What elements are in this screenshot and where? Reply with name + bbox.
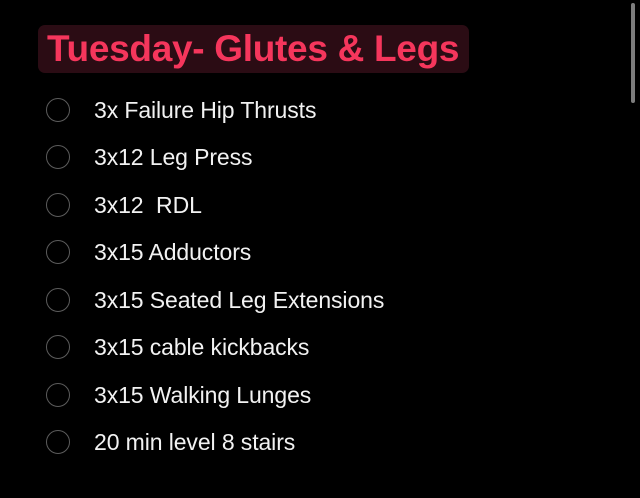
- list-item-label: 3x12 RDL: [94, 191, 202, 219]
- checkbox-icon[interactable]: [46, 98, 70, 122]
- note-page: Tuesday- Glutes & Legs 3x Failure Hip Th…: [0, 0, 640, 498]
- checkbox-icon[interactable]: [46, 335, 70, 359]
- scrollbar[interactable]: [632, 0, 638, 498]
- checklist: 3x Failure Hip Thrusts 3x12 Leg Press 3x…: [0, 86, 640, 466]
- checkbox-icon[interactable]: [46, 193, 70, 217]
- list-item-label: 3x15 Seated Leg Extensions: [94, 286, 384, 314]
- page-title: Tuesday- Glutes & Legs: [38, 25, 469, 73]
- list-item[interactable]: 3x12 RDL: [0, 181, 640, 229]
- list-item[interactable]: 3x15 Adductors: [0, 229, 640, 277]
- list-item-label: 3x12 Leg Press: [94, 143, 252, 171]
- list-item[interactable]: 20 min level 8 stairs: [0, 419, 640, 467]
- list-item-label: 20 min level 8 stairs: [94, 428, 295, 456]
- checkbox-icon[interactable]: [46, 240, 70, 264]
- list-item-label: 3x15 Adductors: [94, 238, 251, 266]
- list-item[interactable]: 3x12 Leg Press: [0, 134, 640, 182]
- scrollbar-thumb[interactable]: [631, 3, 635, 103]
- checkbox-icon[interactable]: [46, 430, 70, 454]
- list-item[interactable]: 3x15 Walking Lunges: [0, 371, 640, 419]
- list-item[interactable]: 3x Failure Hip Thrusts: [0, 86, 640, 134]
- checkbox-icon[interactable]: [46, 145, 70, 169]
- list-item[interactable]: 3x15 Seated Leg Extensions: [0, 276, 640, 324]
- checkbox-icon[interactable]: [46, 383, 70, 407]
- checkbox-icon[interactable]: [46, 288, 70, 312]
- list-item-label: 3x Failure Hip Thrusts: [94, 96, 316, 124]
- list-item[interactable]: 3x15 cable kickbacks: [0, 324, 640, 372]
- list-item-label: 3x15 Walking Lunges: [94, 381, 311, 409]
- list-item-label: 3x15 cable kickbacks: [94, 333, 309, 361]
- note-title-container: Tuesday- Glutes & Legs: [38, 25, 469, 73]
